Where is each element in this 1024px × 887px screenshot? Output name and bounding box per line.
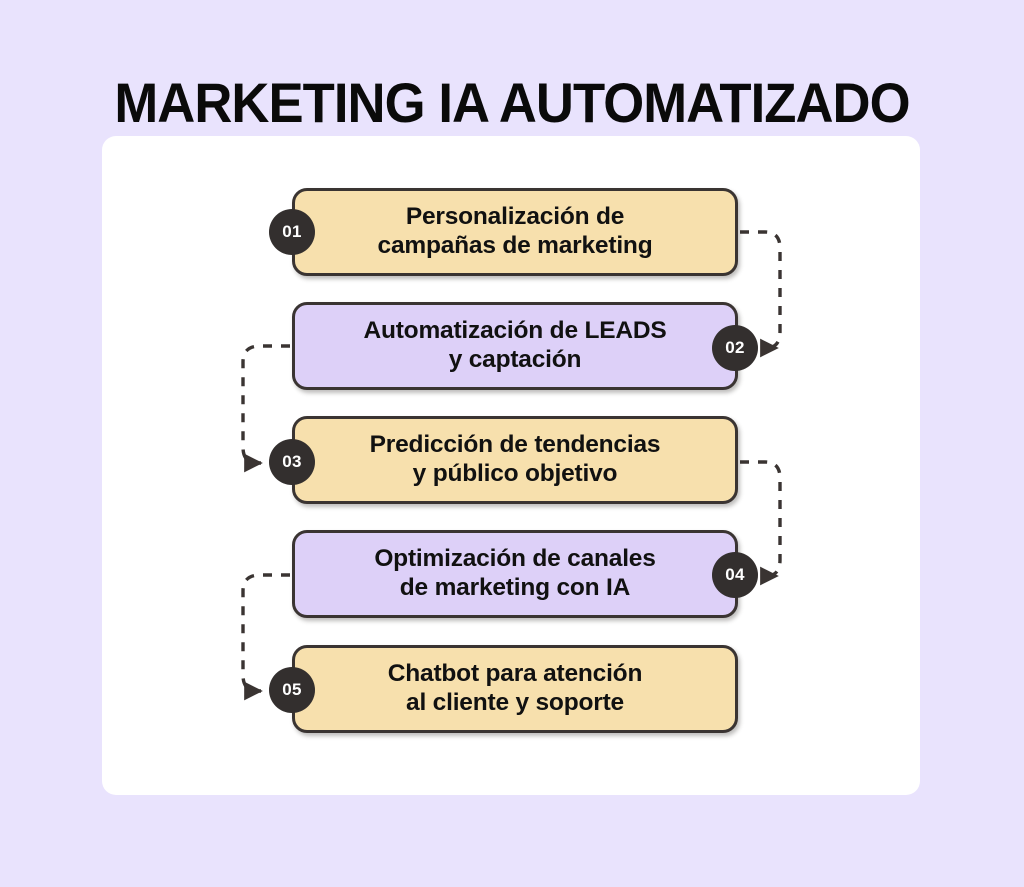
content-card <box>102 136 920 795</box>
page-title: MARKETING IA AUTOMATIZADO <box>31 74 994 133</box>
